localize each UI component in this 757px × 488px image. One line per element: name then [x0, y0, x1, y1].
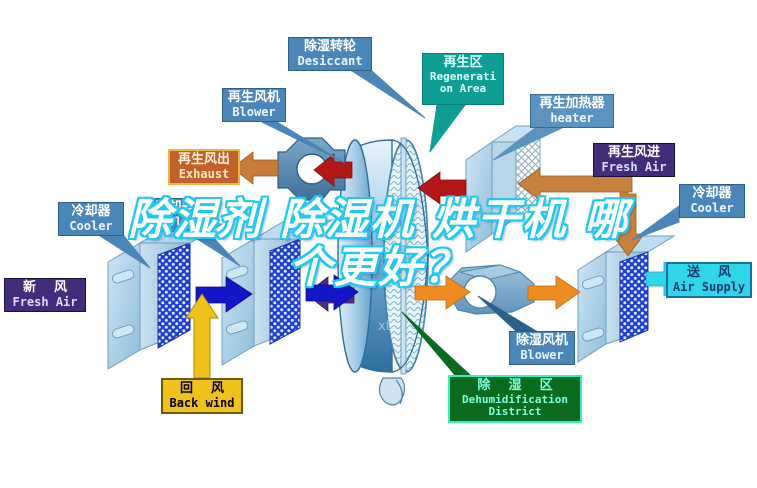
label-dehumidification-district-cn: 除 湿 区 — [450, 379, 580, 394]
label-regeneration-blower: 再生风机Blower — [222, 88, 286, 122]
label-regeneration-fresh-air-en: Fresh Air — [594, 161, 674, 174]
label-regeneration-fresh-air: 再生风进Fresh Air — [593, 143, 675, 177]
label-regeneration-area-cn: 再生区 — [423, 56, 503, 71]
label-cooler-right-en: Cooler — [680, 202, 744, 215]
label-regeneration-area: 再生区Regenerati on Area — [422, 53, 504, 105]
label-cooler-middle-cn: 冷却器 — [143, 201, 207, 216]
label-fresh-air-cn: 新 风 — [5, 281, 85, 296]
label-back-wind: 回 风Back wind — [161, 378, 243, 414]
label-dehumidification-blower-en: Blower — [510, 349, 574, 362]
dehumidifier-diagram-image: xt — [0, 0, 757, 488]
label-desiccant-cn: 除湿转轮 — [289, 40, 371, 55]
label-air-supply-cn: 送 风 — [668, 266, 750, 281]
label-dehumidification-blower: 除湿风机Blower — [509, 331, 575, 365]
label-cooler-middle-en: Cooler — [143, 216, 207, 229]
svg-text:xt: xt — [378, 319, 391, 334]
label-regeneration-heater: 再生加热器heater — [530, 94, 614, 128]
label-regeneration-area-en: Regenerati on Area — [423, 71, 503, 96]
label-regeneration-exhaust-cn: 再生风出 — [170, 153, 238, 168]
label-regeneration-exhaust: 再生风出Exhaust — [168, 149, 240, 185]
label-cooler-left-cn: 冷却器 — [59, 205, 123, 220]
label-fresh-air: 新 风Fresh Air — [4, 278, 86, 312]
label-back-wind-cn: 回 风 — [163, 382, 241, 397]
label-cooler-right: 冷却器Cooler — [679, 184, 745, 218]
arrow-back-wind — [186, 294, 218, 378]
cooler-coil-3 — [578, 236, 674, 362]
label-regeneration-heater-en: heater — [531, 112, 613, 125]
label-cooler-left: 冷却器Cooler — [58, 202, 124, 236]
label-regeneration-exhaust-en: Exhaust — [170, 168, 238, 181]
label-cooler-middle: 冷却器Cooler — [142, 198, 208, 232]
label-cooler-left-en: Cooler — [59, 220, 123, 233]
callout-tail-desiccant — [352, 71, 425, 118]
label-fresh-air-en: Fresh Air — [5, 296, 85, 309]
label-cooler-right-cn: 冷却器 — [680, 187, 744, 202]
arrow-regen-fresh-air — [518, 168, 644, 256]
label-regeneration-heater-cn: 再生加热器 — [531, 97, 613, 112]
label-dehumidification-district: 除 湿 区Dehumidification District — [448, 375, 582, 423]
callout-tail-regeneration-area — [430, 105, 465, 152]
label-back-wind-en: Back wind — [163, 397, 241, 410]
label-dehumidification-blower-cn: 除湿风机 — [510, 334, 574, 349]
label-desiccant: 除湿转轮Desiccant — [288, 37, 372, 71]
label-air-supply-en: Air Supply — [668, 281, 750, 294]
label-dehumidification-district-en: Dehumidification District — [450, 394, 580, 419]
label-air-supply: 送 风Air Supply — [666, 262, 752, 298]
label-regeneration-fresh-air-cn: 再生风进 — [594, 146, 674, 161]
label-desiccant-en: Desiccant — [289, 55, 371, 68]
callout-tail-cooler-right — [632, 206, 679, 240]
callout-tail-cooler-middle — [186, 232, 240, 266]
arrow-blower-out — [528, 276, 580, 309]
label-regeneration-blower-cn: 再生风机 — [223, 91, 285, 106]
airflow-diagram-canvas: xt — [0, 0, 757, 488]
label-regeneration-blower-en: Blower — [223, 106, 285, 119]
